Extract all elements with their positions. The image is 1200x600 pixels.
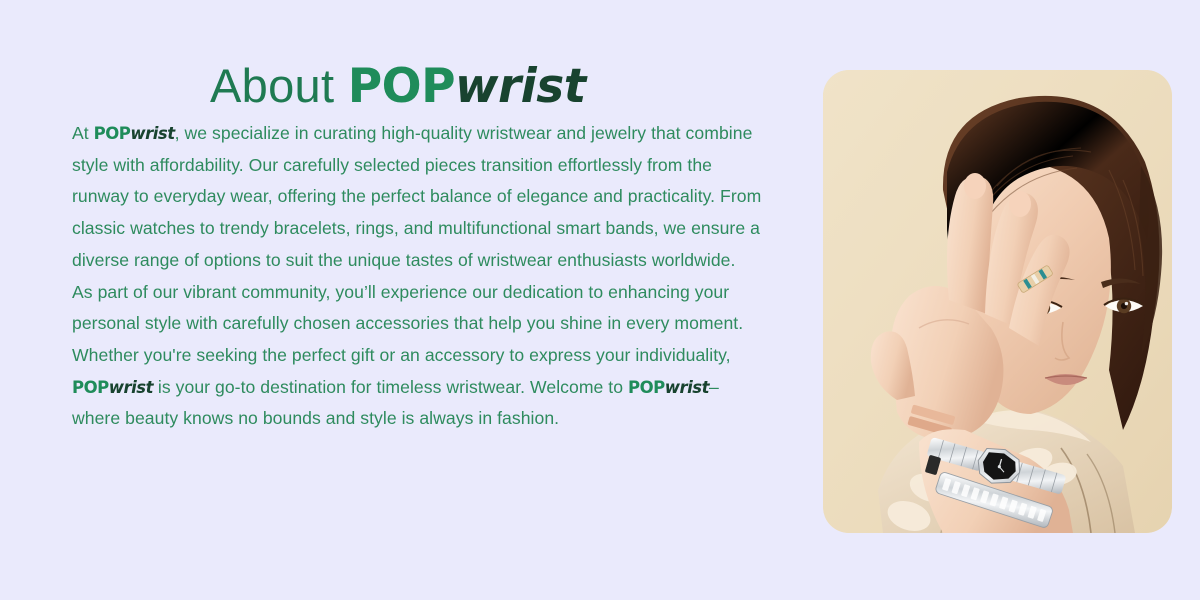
brand-inline-pop: POP	[94, 124, 131, 143]
page-title-prefix: About	[210, 59, 348, 112]
page-title: About POPwrist	[210, 59, 586, 114]
about-section: About POPwrist At POPwrist, we specializ…	[0, 0, 1200, 600]
about-paragraph-2: As part of our vibrant community, you’ll…	[72, 277, 762, 436]
brand-inline-pop: POP	[72, 378, 109, 397]
brand-inline-wrist: wrist	[109, 378, 153, 397]
brand-logo-pop: POP	[348, 59, 455, 114]
brand-inline-wrist: wrist	[665, 378, 709, 397]
about-body-copy: At POPwrist, we specialize in curating h…	[72, 118, 762, 435]
paragraph-1-lead: At	[72, 123, 94, 143]
brand-inline-pop: POP	[628, 378, 665, 397]
about-paragraph-1: At POPwrist, we specialize in curating h…	[72, 118, 762, 277]
brand-logo-wrist: wrist	[455, 59, 586, 114]
paragraph-1-rest: , we specialize in curating high-quality…	[72, 123, 761, 270]
model-photo-illustration	[823, 70, 1172, 533]
paragraph-2-part-2: is your go-to destination for timeless w…	[153, 377, 628, 397]
about-hero-photo	[823, 70, 1172, 533]
paragraph-2-part-1: As part of our vibrant community, you’ll…	[72, 282, 743, 365]
brand-inline-wrist: wrist	[130, 124, 174, 143]
